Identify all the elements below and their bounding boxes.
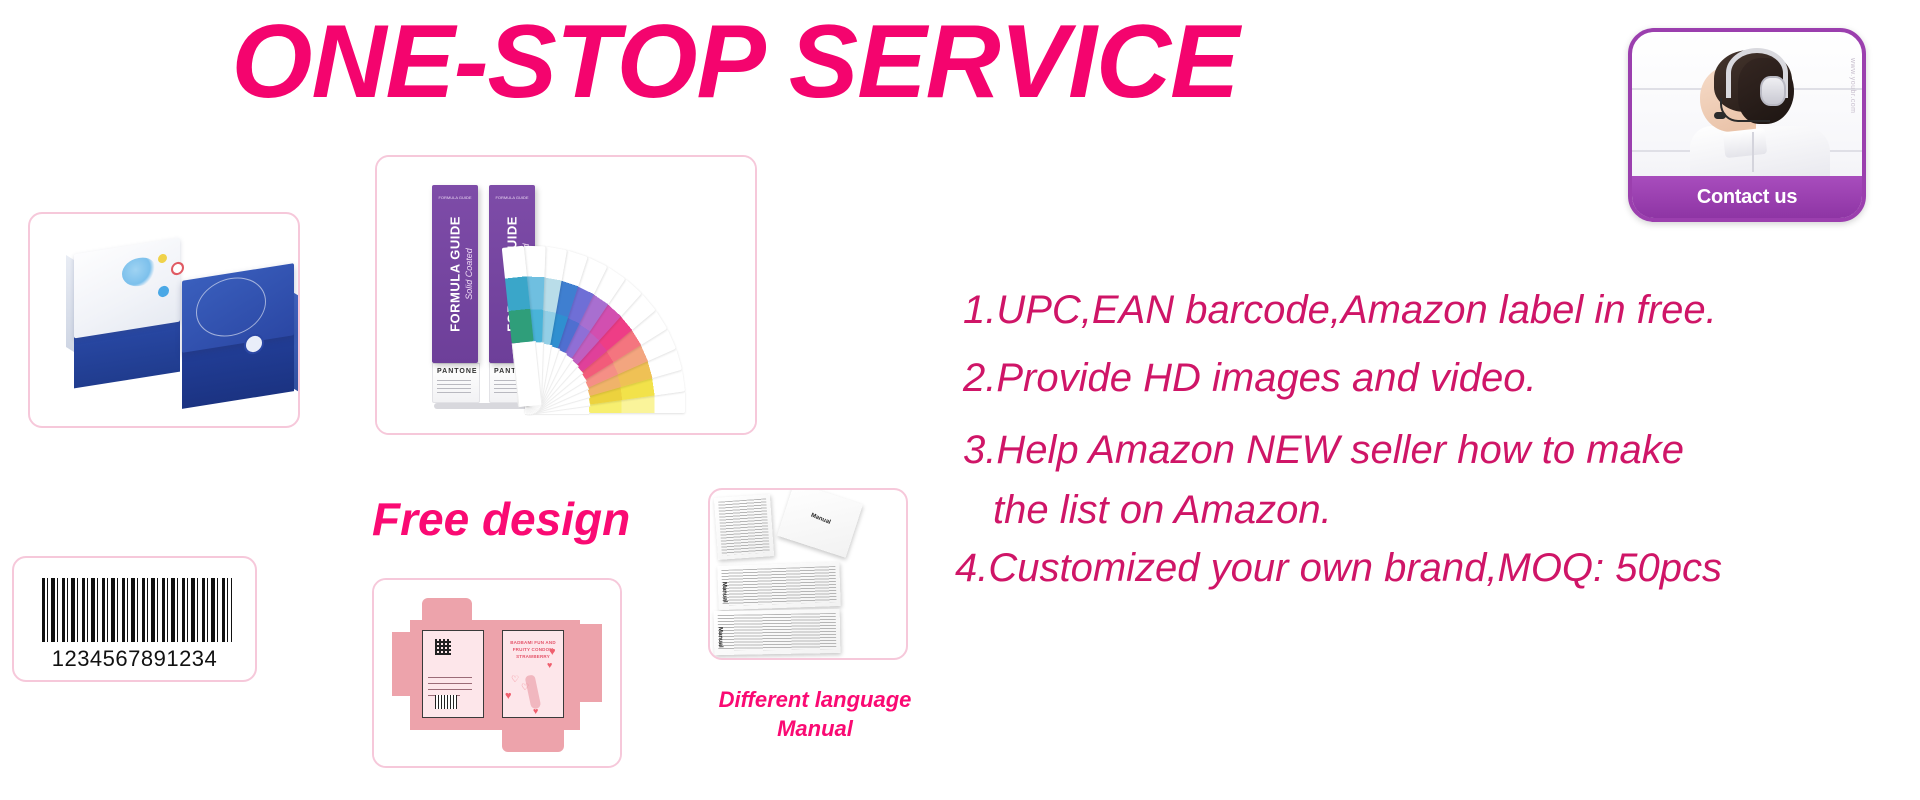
barcode-photo: 1234567891234 [12, 556, 257, 682]
feature-item-1: 1.UPC,EAN barcode,Amazon label in free. [963, 290, 1717, 330]
dieline-left-tab [392, 632, 412, 696]
product-silhouette-icon [525, 674, 542, 709]
dieline-text-line-3 [428, 689, 472, 690]
manual-caption-line-2: Manual [690, 715, 940, 744]
headset-mic-boom-icon [1720, 98, 1770, 122]
pantone-base-coated: PANTONE [432, 363, 480, 403]
pantone-guide-subtitle-coated: Solid Coated [464, 248, 474, 300]
pantone-fan-deck-photo: PANTONE PANTONE FORMULA GUIDE FORMULA GU… [375, 155, 757, 435]
heart-icon-3: ♥ [547, 661, 552, 670]
pantone-guide-coated: FORMULA GUIDE FORMULA GUIDE Solid Coated [432, 185, 478, 363]
page-title: ONE-STOP SERVICE [0, 8, 1470, 117]
barcode-bars-icon [42, 578, 232, 642]
feature-item-3: 3.Help Amazon NEW seller how to make [963, 430, 1684, 470]
pantone-fan-blades [517, 175, 757, 413]
pantone-guide-top-label-1: FORMULA GUIDE [438, 195, 471, 200]
dieline-right-tab [578, 624, 602, 702]
contact-us-card[interactable]: www.youbr.com Contact us [1628, 28, 1866, 222]
gift-box-photo [28, 212, 300, 428]
heart-icon-1: ♡ [511, 675, 519, 684]
manual-side-label-2: Manual [717, 627, 723, 648]
manual-caption-line-1: Different language [690, 686, 940, 715]
one-stop-service-banner: ONE-STOP SERVICE 1234567891234 [0, 0, 1920, 800]
manual-text-lines-1 [718, 498, 770, 555]
manual-cover-label: Manual [810, 512, 831, 525]
pantone-brand-label-1: PANTONE [437, 368, 478, 375]
heart-icon-2: ♡ [521, 683, 529, 692]
feature-item-4: 4.Customized your own brand,MOQ: 50pcs [955, 548, 1722, 588]
contact-watermark: www.youbr.com [1849, 58, 1856, 114]
dieline-photo: BADBAMI FUN AND FRUITY CONDOM STRAWBERRY… [372, 578, 622, 768]
manual-folded-1: Manual [717, 562, 840, 610]
pantone-guide-title-1: FORMULA GUIDE [448, 216, 463, 332]
dieline-front-panel: BADBAMI FUN AND FRUITY CONDOM STRAWBERRY… [502, 630, 564, 718]
strawberry-icon-1: ♥ [549, 647, 556, 658]
feature-item-3-continued: the list on Amazon. [993, 490, 1332, 530]
pantone-base-text-lines-1 [437, 380, 471, 396]
dieline-back-panel [422, 630, 484, 718]
qr-code-icon [435, 639, 451, 655]
manual-side-label-1: Manual [721, 582, 728, 603]
dieline-text-line-2 [428, 683, 472, 684]
feature-item-2: 2.Provide HD images and video. [963, 358, 1537, 398]
barcode-number: 1234567891234 [14, 646, 255, 672]
manual-text-lines-3 [718, 613, 837, 651]
gift-box-dot-red [171, 261, 184, 276]
pantone-guide-top-label-2: FORMULA GUIDE [495, 195, 528, 200]
agent-shirt-placket [1752, 132, 1754, 172]
contact-us-label: Contact us [1697, 186, 1797, 209]
headset-mic-tip-icon [1714, 112, 1726, 119]
strawberry-icon-2: ♥ [505, 691, 512, 702]
gift-box-illustration [30, 214, 298, 426]
manuals-photo: Manual Manual Manual [708, 488, 908, 660]
dieline-body: BADBAMI FUN AND FRUITY CONDOM STRAWBERRY… [392, 598, 606, 750]
free-design-caption: Free design [372, 492, 672, 546]
customer-service-agent-icon [1690, 50, 1830, 172]
manual-caption: Different language Manual [690, 686, 940, 743]
dieline-illustration: BADBAMI FUN AND FRUITY CONDOM STRAWBERRY… [374, 580, 620, 766]
manual-text-lines-2 [721, 566, 836, 606]
manual-folded-2: Manual [714, 609, 841, 655]
manual-sheet-1 [714, 494, 774, 560]
agent-collar [1723, 128, 1767, 158]
heart-icon-4: ♥ [533, 707, 538, 716]
dieline-text-line-1 [428, 677, 472, 678]
dieline-barcode-icon [435, 695, 457, 709]
contact-us-button[interactable]: Contact us [1632, 176, 1862, 218]
manual-booklet-cover: Manual [777, 488, 863, 558]
pantone-illustration: PANTONE PANTONE FORMULA GUIDE FORMULA GU… [377, 157, 755, 433]
